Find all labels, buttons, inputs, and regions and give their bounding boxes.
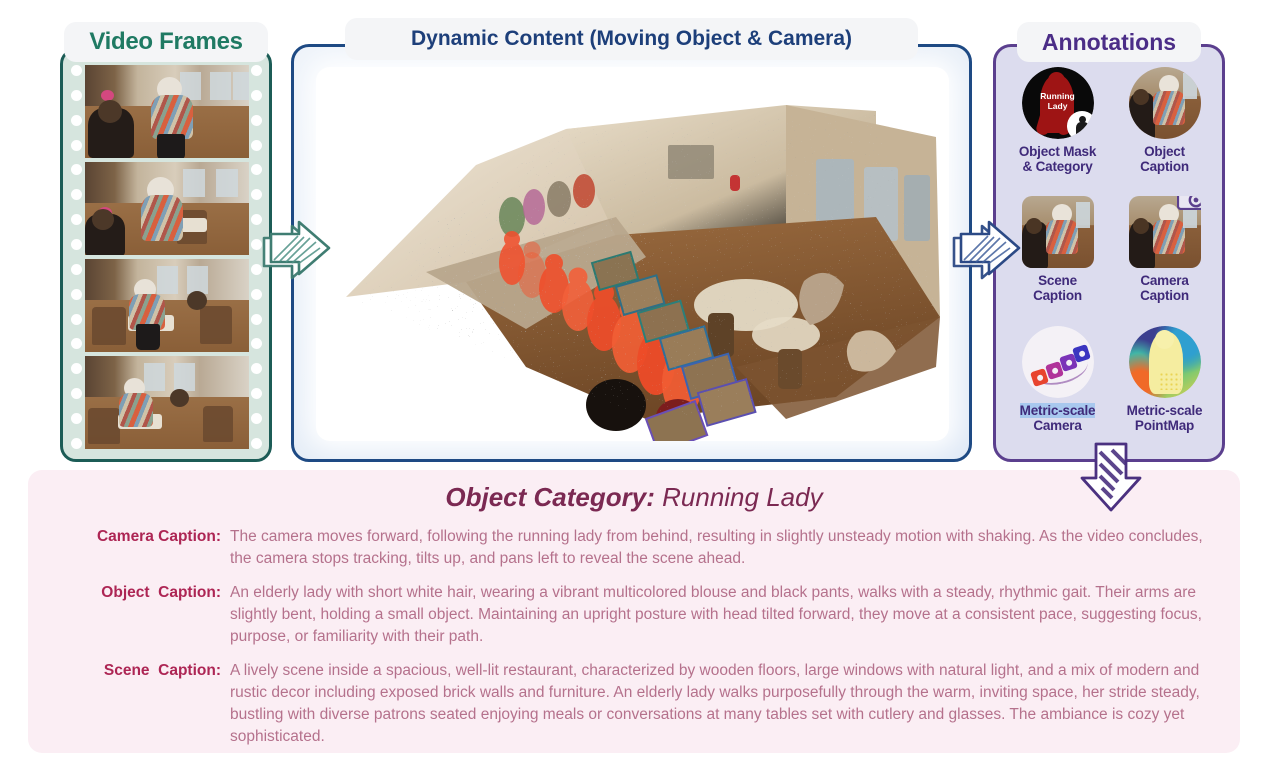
video-frames-panel bbox=[60, 48, 272, 462]
video-frame-1 bbox=[85, 65, 249, 158]
pointcloud-canvas[interactable] bbox=[316, 67, 949, 441]
annotations-grid: Running Lady Object Mask & Category bbox=[1004, 63, 1218, 449]
caption-label-scene: Scene Caption: bbox=[52, 660, 230, 682]
annotation-label: Metric-scale PointMap bbox=[1127, 403, 1203, 433]
annotation-camera-caption[interactable]: Camera Caption bbox=[1111, 192, 1218, 319]
captions-panel: Object Category: Running Lady Camera Cap… bbox=[28, 470, 1240, 753]
object-category-value: Running Lady bbox=[662, 482, 822, 512]
annotation-object-caption[interactable]: Object Caption bbox=[1111, 63, 1218, 190]
person-silhouette-badge-icon bbox=[1067, 111, 1094, 139]
metric-scale-pointmap-icon bbox=[1129, 326, 1201, 398]
object-category-heading: Object Category: Running Lady bbox=[28, 482, 1240, 513]
arrow-frames-to-content bbox=[258, 212, 336, 292]
caption-row-camera: Camera Caption: The camera moves forward… bbox=[52, 526, 1220, 570]
caption-label-camera: Camera Caption: bbox=[52, 526, 230, 548]
object-caption-thumb bbox=[1129, 67, 1201, 139]
video-frame-4 bbox=[85, 356, 249, 449]
caption-row-scene: Scene Caption: A lively scene inside a s… bbox=[52, 660, 1220, 748]
dynamic-content-title: Dynamic Content (Moving Object & Camera) bbox=[345, 18, 918, 60]
object-category-key: Object Category: bbox=[445, 482, 655, 512]
video-frames-title: Video Frames bbox=[64, 22, 268, 62]
object-mask-text-line2: Lady bbox=[1048, 101, 1068, 111]
annotation-label: Scene Caption bbox=[1033, 273, 1082, 303]
camera-caption-thumb bbox=[1129, 196, 1201, 268]
caption-text-scene: A lively scene inside a spacious, well-l… bbox=[230, 660, 1220, 748]
pointcloud-scene bbox=[316, 67, 949, 441]
annotation-metric-scale-pointmap[interactable]: Metric-scale PointMap bbox=[1111, 322, 1218, 449]
selected-text: Metric-scale bbox=[1020, 403, 1096, 418]
object-mask-text-line1: Running bbox=[1040, 91, 1074, 101]
arrow-content-to-annotations bbox=[948, 212, 1026, 292]
video-frame-2 bbox=[85, 162, 249, 255]
annotation-object-mask-category[interactable]: Running Lady Object Mask & Category bbox=[1004, 63, 1111, 190]
annotation-label: Metric-scale Camera bbox=[1020, 403, 1096, 433]
dynamic-content-panel bbox=[291, 44, 972, 462]
scene-caption-thumb bbox=[1022, 196, 1094, 268]
caption-label-object: Object Caption: bbox=[52, 582, 230, 604]
annotations-title: Annotations bbox=[1017, 22, 1201, 62]
annotations-panel: Running Lady Object Mask & Category bbox=[993, 44, 1225, 462]
camera-icon bbox=[1177, 196, 1201, 210]
caption-text-object: An elderly lady with short white hair, w… bbox=[230, 582, 1220, 648]
metric-scale-camera-icon bbox=[1022, 326, 1094, 398]
caption-text-camera: The camera moves forward, following the … bbox=[230, 526, 1220, 570]
arrow-annotations-to-captions bbox=[1070, 440, 1156, 516]
annotation-metric-scale-camera[interactable]: Metric-scale Camera bbox=[1004, 322, 1111, 449]
caption-row-object: Object Caption: An elderly lady with sho… bbox=[52, 582, 1220, 648]
filmstrip-sprockets-left bbox=[69, 65, 83, 449]
annotation-label: Object Mask & Category bbox=[1019, 144, 1096, 174]
object-mask-icon: Running Lady bbox=[1022, 67, 1094, 139]
annotation-label: Camera Caption bbox=[1140, 273, 1189, 303]
annotation-label: Object Caption bbox=[1140, 144, 1189, 174]
video-frames-stack bbox=[85, 65, 249, 449]
diagram-top-row: Video Frames bbox=[0, 0, 1266, 470]
video-frame-3 bbox=[85, 259, 249, 352]
